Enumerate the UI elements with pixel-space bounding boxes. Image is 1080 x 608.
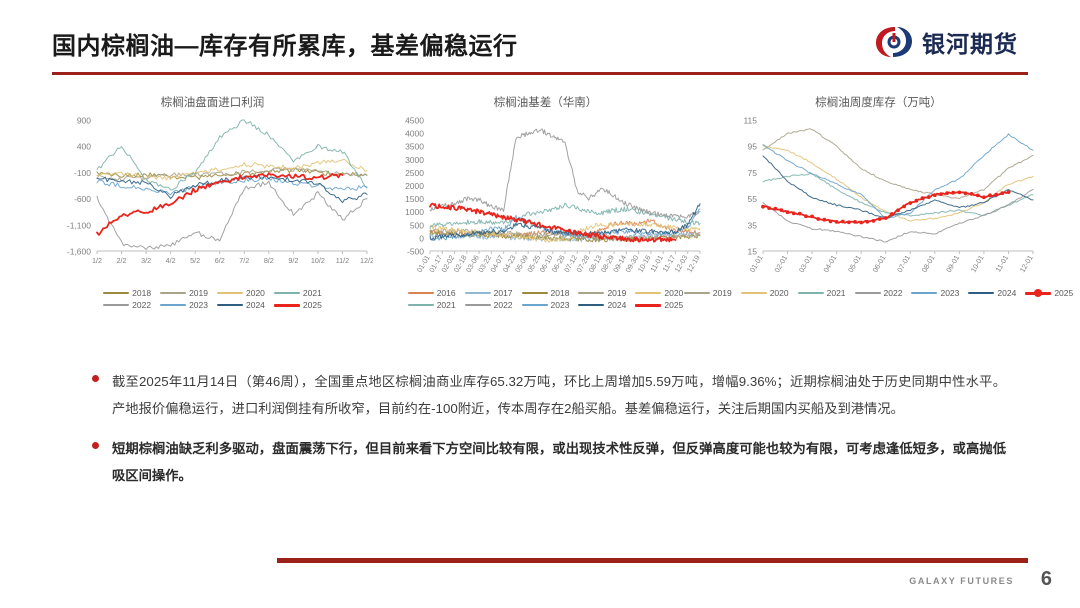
legend-swatch-icon (465, 304, 491, 307)
legend-swatch-icon (635, 292, 661, 295)
svg-text:2000: 2000 (405, 181, 424, 191)
legend-swatch-icon (911, 292, 937, 295)
legend-swatch-icon (103, 304, 129, 307)
svg-text:11-01: 11-01 (993, 254, 1010, 274)
legend-label: 2023 (551, 300, 570, 310)
chart-weekly-inventory: 棕榈油周度库存（万吨） 115957555351501-0102-0103-01… (712, 92, 1045, 330)
chart-title: 棕榈油基差（华南） (379, 92, 712, 112)
svg-text:1/2: 1/2 (92, 256, 102, 265)
svg-text:75: 75 (747, 168, 757, 178)
legend-item-2019[interactable]: 2019 (684, 288, 732, 298)
chart-title: 棕榈油周度库存（万吨） (712, 92, 1045, 112)
svg-text:12-01: 12-01 (1017, 254, 1034, 274)
legend-label: 2023 (940, 288, 959, 298)
legend-label: 2022 (132, 300, 151, 310)
svg-text:4/2: 4/2 (165, 256, 175, 265)
legend-label: 2024 (997, 288, 1016, 298)
svg-text:900: 900 (76, 116, 90, 126)
legend-label: 2018 (132, 288, 151, 298)
legend-label: 2024 (607, 300, 626, 310)
legend-swatch-icon (635, 304, 661, 307)
legend-item-2020[interactable]: 2020 (217, 288, 265, 298)
legend-label: 2019 (713, 288, 732, 298)
legend-label: 2018 (551, 288, 570, 298)
legend-swatch-icon (1025, 292, 1051, 295)
svg-text:07-01: 07-01 (895, 254, 912, 274)
legend-item-2021[interactable]: 2021 (408, 300, 456, 310)
legend-swatch-icon (741, 292, 767, 295)
charts-row: 棕榈油盘面进口利润 900400-100-600-1,100-1,6001/22… (46, 92, 1046, 330)
svg-text:02-01: 02-01 (772, 254, 789, 274)
legend-item-2022[interactable]: 2022 (855, 288, 903, 298)
legend-label: 2022 (494, 300, 513, 310)
legend-item-2020[interactable]: 2020 (635, 288, 683, 298)
legend-swatch-icon (103, 292, 129, 295)
bullet-dot-icon (92, 442, 99, 449)
legend-label: 2023 (189, 300, 208, 310)
chart-canvas: 450040003500300025002000150010005000-500… (386, 112, 706, 287)
legend-swatch-icon (855, 292, 881, 295)
slide-header: 国内棕榈油—库存有所累库，基差偏稳运行 银河期货 (0, 0, 1080, 78)
logo-text: 银河期货 (922, 25, 1018, 59)
legend-label: 2022 (884, 288, 903, 298)
title-divider (52, 72, 1028, 75)
legend-label: 2024 (246, 300, 265, 310)
legend-label: 2021 (303, 288, 322, 298)
legend-swatch-icon (274, 304, 300, 307)
legend-label: 2019 (607, 288, 626, 298)
legend-swatch-icon (465, 292, 491, 295)
legend-swatch-icon (684, 292, 710, 295)
legend-swatch-icon (968, 292, 994, 295)
slide: 国内棕榈油—库存有所累库，基差偏稳运行 银河期货 棕榈油盘面进口利润 90040… (0, 0, 1080, 608)
legend-item-2023[interactable]: 2023 (522, 300, 570, 310)
svg-text:1000: 1000 (405, 207, 424, 217)
legend-row: 20212022202320242025 (379, 300, 712, 310)
legend-row: 2018201920202021 (46, 288, 379, 298)
legend-label: 2020 (246, 288, 265, 298)
svg-text:08-01: 08-01 (919, 254, 936, 274)
svg-text:7/2: 7/2 (239, 256, 249, 265)
chart-canvas: 900400-100-600-1,100-1,6001/22/23/24/25/… (53, 112, 373, 287)
svg-text:0: 0 (419, 233, 424, 243)
legend-item-2024[interactable]: 2024 (968, 288, 1016, 298)
svg-text:12-19: 12-19 (684, 254, 701, 274)
legend-swatch-icon (160, 292, 186, 295)
page-number: 6 (1041, 568, 1052, 591)
svg-text:1500: 1500 (405, 194, 424, 204)
legend-swatch-icon (408, 304, 434, 307)
legend-row: 2022202320242025 (46, 300, 379, 310)
legend-item-2025[interactable]: 2025 (1025, 288, 1073, 298)
svg-text:05-01: 05-01 (845, 254, 862, 274)
chart-title: 棕榈油盘面进口利润 (46, 92, 379, 112)
legend-label: 2019 (189, 288, 208, 298)
svg-text:115: 115 (743, 116, 757, 126)
legend-item-2023[interactable]: 2023 (160, 300, 208, 310)
legend-label: 2025 (1054, 288, 1073, 298)
bullet-text: 截至2025年11月14日（第46周），全国重点地区棕榈油商业库存65.32万吨… (112, 368, 1006, 422)
svg-text:4500: 4500 (405, 116, 424, 126)
svg-text:3000: 3000 (405, 155, 424, 165)
chart-legend: 2016201720182019202020212022202320242025 (379, 288, 712, 310)
svg-text:06-01: 06-01 (870, 254, 887, 274)
legend-item-2019[interactable]: 2019 (578, 288, 626, 298)
svg-text:-500: -500 (406, 247, 423, 257)
chart-legend: 2019202020212022202320242025 (712, 288, 1045, 298)
svg-text:5/2: 5/2 (190, 256, 200, 265)
svg-text:500: 500 (409, 220, 423, 230)
svg-text:01-01: 01-01 (747, 254, 764, 274)
svg-text:-600: -600 (73, 194, 90, 204)
legend-item-2024[interactable]: 2024 (217, 300, 265, 310)
legend-swatch-icon (522, 304, 548, 307)
svg-text:8/2: 8/2 (263, 256, 273, 265)
svg-text:400: 400 (76, 142, 90, 152)
legend-item-2022[interactable]: 2022 (103, 300, 151, 310)
legend-item-2022[interactable]: 2022 (465, 300, 513, 310)
legend-swatch-icon (798, 292, 824, 295)
svg-text:10-01: 10-01 (968, 254, 985, 274)
chart-import-profit: 棕榈油盘面进口利润 900400-100-600-1,100-1,6001/22… (46, 92, 379, 330)
legend-label: 2025 (664, 300, 683, 310)
svg-text:-1,100: -1,100 (66, 220, 90, 230)
company-logo: 银河期货 (874, 24, 1018, 60)
svg-text:04-01: 04-01 (821, 254, 838, 274)
legend-label: 2020 (770, 288, 789, 298)
svg-text:3/2: 3/2 (141, 256, 151, 265)
legend-item-2020[interactable]: 2020 (741, 288, 789, 298)
legend-label: 2017 (494, 288, 513, 298)
legend-label: 2020 (664, 288, 683, 298)
svg-text:11/2: 11/2 (335, 256, 348, 265)
legend-row: 20162017201820192020 (379, 288, 712, 298)
galaxy-swirl-logo-icon (874, 25, 914, 59)
legend-item-2021[interactable]: 2021 (274, 288, 322, 298)
bullet-dot-icon (92, 375, 99, 382)
legend-swatch-icon (217, 304, 243, 307)
legend-item-2025[interactable]: 2025 (635, 300, 683, 310)
legend-label: 2021 (827, 288, 846, 298)
svg-text:35: 35 (747, 220, 757, 230)
svg-text:-1,600: -1,600 (66, 247, 90, 257)
legend-item-2021[interactable]: 2021 (798, 288, 846, 298)
bullet-text: 短期棕榈油缺乏利多驱动，盘面震荡下行，但目前来看下方空间比较有限，或出现技术性反… (112, 435, 1006, 489)
legend-swatch-icon (578, 304, 604, 307)
legend-row: 2019202020212022202320242025 (712, 288, 1045, 298)
legend-item-2018[interactable]: 2018 (103, 288, 151, 298)
legend-swatch-icon (274, 292, 300, 295)
legend-item-2023[interactable]: 2023 (911, 288, 959, 298)
legend-swatch-icon (217, 292, 243, 295)
svg-text:4000: 4000 (405, 129, 424, 139)
footer-brand: GALAXY FUTURES (909, 576, 1014, 586)
footer-divider (277, 558, 1028, 563)
bullet-item: 短期棕榈油缺乏利多驱动，盘面震荡下行，但目前来看下方空间比较有限，或出现技术性反… (88, 435, 1006, 489)
legend-item-2017[interactable]: 2017 (465, 288, 513, 298)
chart-canvas: 115957555351501-0102-0103-0104-0105-0106… (719, 112, 1039, 287)
legend-swatch-icon (578, 292, 604, 295)
legend-label: 2021 (437, 300, 456, 310)
legend-item-2018[interactable]: 2018 (522, 288, 570, 298)
svg-text:09-01: 09-01 (944, 254, 961, 274)
svg-text:3500: 3500 (405, 142, 424, 152)
svg-text:2500: 2500 (405, 168, 424, 178)
legend-label: 2016 (437, 288, 456, 298)
body-content: 截至2025年11月14日（第46周），全国重点地区棕榈油商业库存65.32万吨… (88, 368, 1006, 502)
svg-text:6/2: 6/2 (214, 256, 224, 265)
legend-swatch-icon (408, 292, 434, 295)
legend-label: 2025 (303, 300, 322, 310)
svg-text:03-01: 03-01 (796, 254, 813, 274)
legend-item-2019[interactable]: 2019 (160, 288, 208, 298)
legend-item-2025[interactable]: 2025 (274, 300, 322, 310)
svg-text:-100: -100 (73, 168, 90, 178)
legend-swatch-icon (160, 304, 186, 307)
legend-item-2016[interactable]: 2016 (408, 288, 456, 298)
legend-swatch-icon (522, 292, 548, 295)
svg-text:2/2: 2/2 (116, 256, 126, 265)
legend-item-2024[interactable]: 2024 (578, 300, 626, 310)
chart-legend: 20182019202020212022202320242025 (46, 288, 379, 310)
svg-text:95: 95 (747, 142, 757, 152)
svg-text:9/2: 9/2 (288, 256, 298, 265)
page-title: 国内棕榈油—库存有所累库，基差偏稳运行 (52, 26, 518, 61)
svg-text:10/2: 10/2 (310, 256, 324, 265)
bullet-item: 截至2025年11月14日（第46周），全国重点地区棕榈油商业库存65.32万吨… (88, 368, 1006, 422)
svg-text:12/2: 12/2 (360, 256, 373, 265)
chart-basis-south-china: 棕榈油基差（华南） 450040003500300025002000150010… (379, 92, 712, 330)
svg-text:55: 55 (747, 194, 757, 204)
